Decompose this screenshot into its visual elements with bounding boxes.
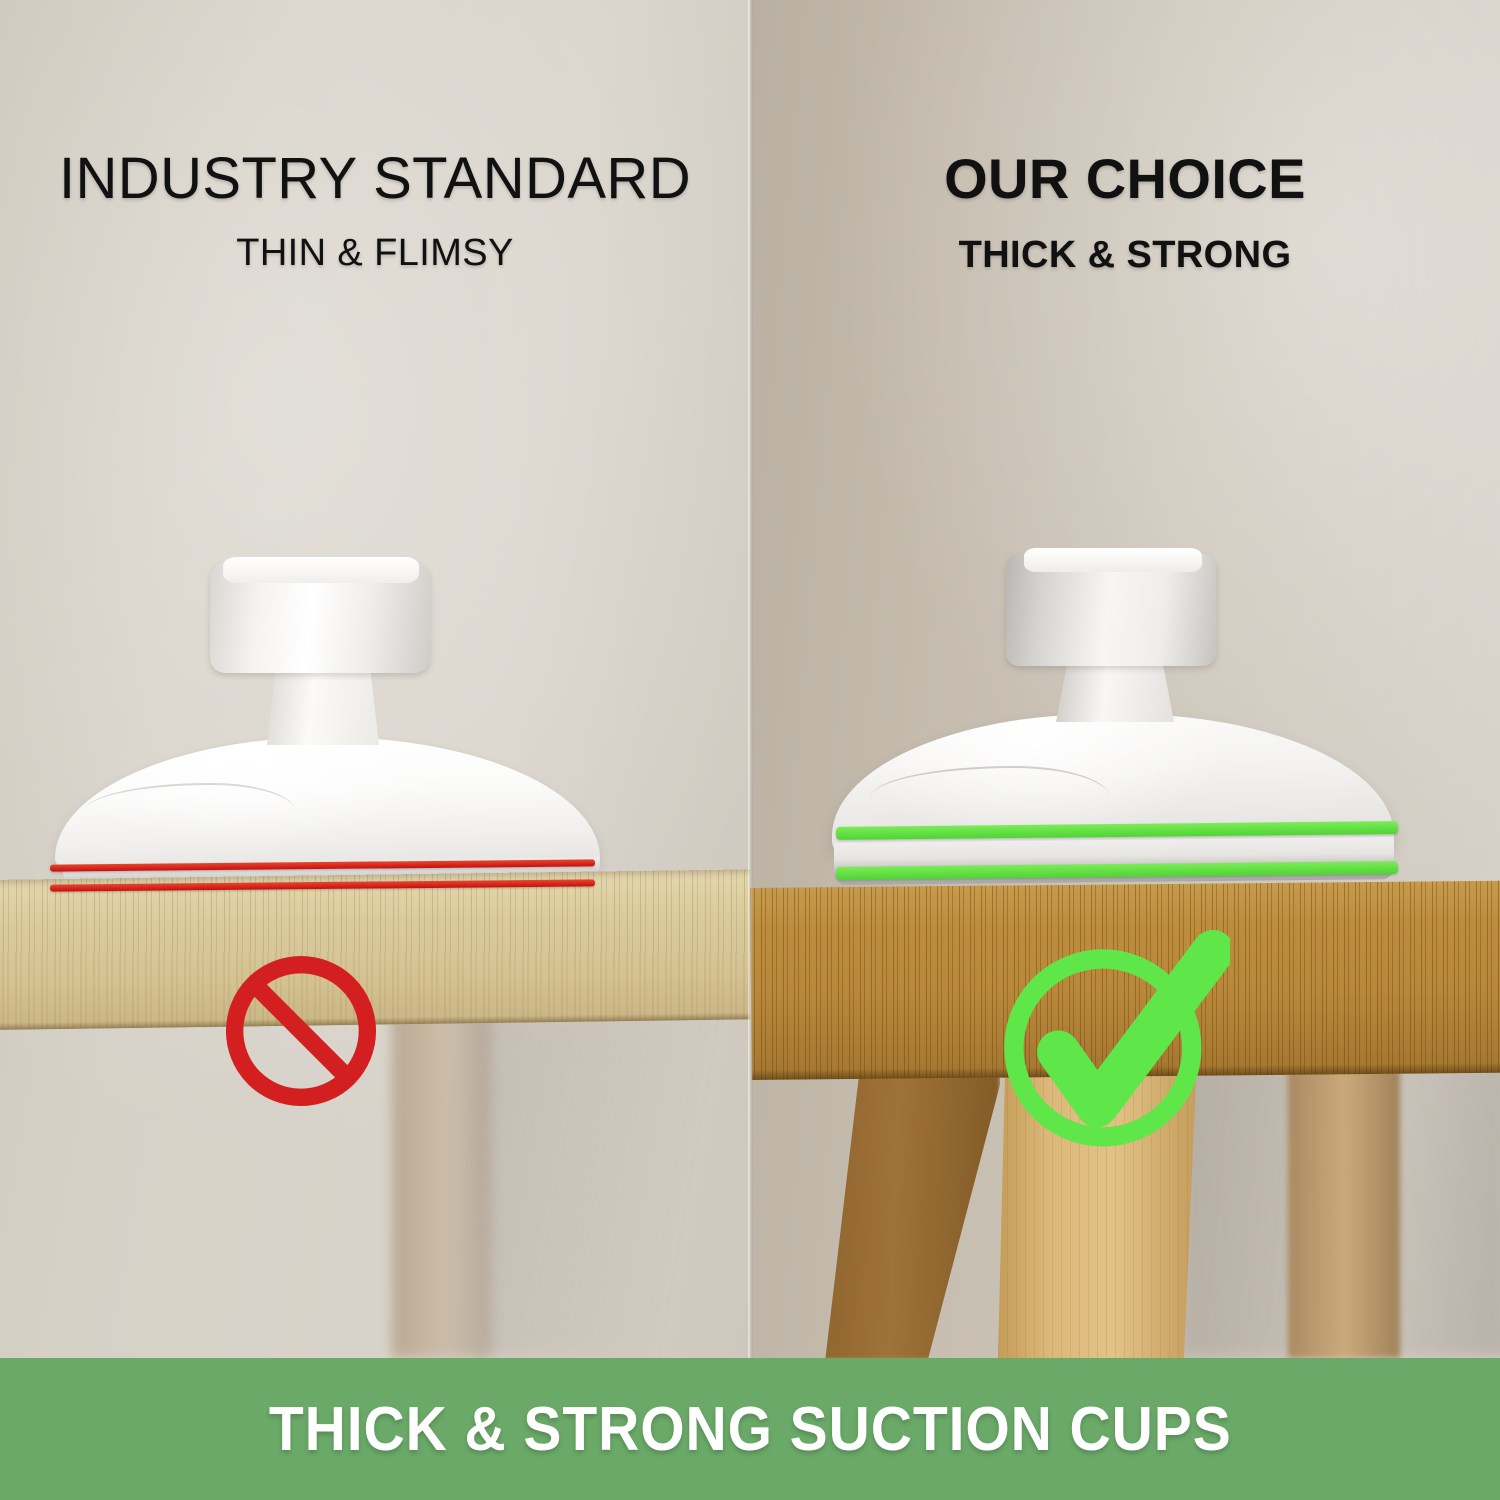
left-panel-title: INDUSTRY STANDARD: [0, 145, 750, 212]
panel-divider: [748, 0, 753, 1358]
right-panel-title: OUR CHOICE: [750, 146, 1500, 211]
suction-cup-thin: [55, 555, 600, 880]
banner-headline: THICK & STRONG SUCTION CUPS: [269, 1394, 1232, 1465]
table-leg-far-right: [1288, 1032, 1400, 1358]
bottom-banner: THICK & STRONG SUCTION CUPS: [0, 1358, 1500, 1500]
right-panel-subtitle: THICK & STRONG: [750, 234, 1500, 277]
prohibition-icon: [222, 952, 380, 1110]
comparison-panel-left: INDUSTRY STANDARD THIN & FLIMSY: [0, 0, 750, 1358]
left-panel-subtitle: THIN & FLIMSY: [0, 232, 750, 275]
wall-shadow-left: [470, 1010, 750, 1358]
checkmark-circle-icon: [995, 928, 1230, 1160]
suction-cup-neck-thick: [1056, 660, 1174, 722]
suction-cup-knob-top-thin: [223, 557, 419, 583]
suction-cup-neck-thin: [267, 667, 379, 745]
suction-cup-knob-top-thick: [1024, 548, 1202, 572]
product-comparison-image: INDUSTRY STANDARD THIN & FLIMSY OUR CHOI…: [0, 0, 1500, 1500]
